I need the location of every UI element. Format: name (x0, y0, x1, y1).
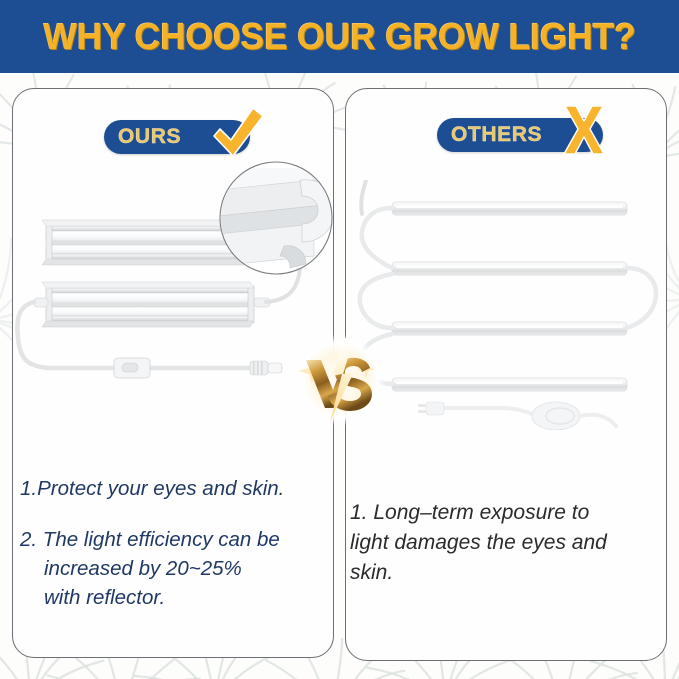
bullet-others-3: skin. (350, 558, 650, 588)
page-title: WHY CHOOSE OUR GROW LIGHT? (43, 16, 635, 58)
bullet-ours-2: 2. The light efficiency can be (12, 525, 330, 554)
bullet-ours-4: with reflector. (12, 583, 330, 612)
bullets-ours: 1.Protect your eyes and skin. 2. The lig… (12, 474, 330, 612)
bullet-ours-3: increased by 20~25% (12, 554, 330, 583)
badge-others: OTHERS (437, 118, 603, 152)
badge-others-label: OTHERS (451, 123, 542, 147)
product-image-others (348, 180, 666, 430)
badge-ours-label: OURS (118, 125, 181, 149)
bullet-others-2: light damages the eyes and (350, 528, 650, 558)
badge-ours-pill: OURS (104, 120, 250, 154)
bullet-others-1: 1. Long–term exposure to (350, 498, 650, 528)
badge-others-pill: OTHERS (437, 118, 603, 152)
bullets-others: 1. Long–term exposure to light damages t… (350, 498, 650, 587)
product-image-ours (14, 160, 334, 420)
badge-ours: OURS (104, 120, 250, 154)
vs-badge (292, 332, 388, 428)
bullet-ours-1: 1.Protect your eyes and skin. (12, 474, 330, 503)
header-banner: WHY CHOOSE OUR GROW LIGHT? (0, 0, 679, 73)
